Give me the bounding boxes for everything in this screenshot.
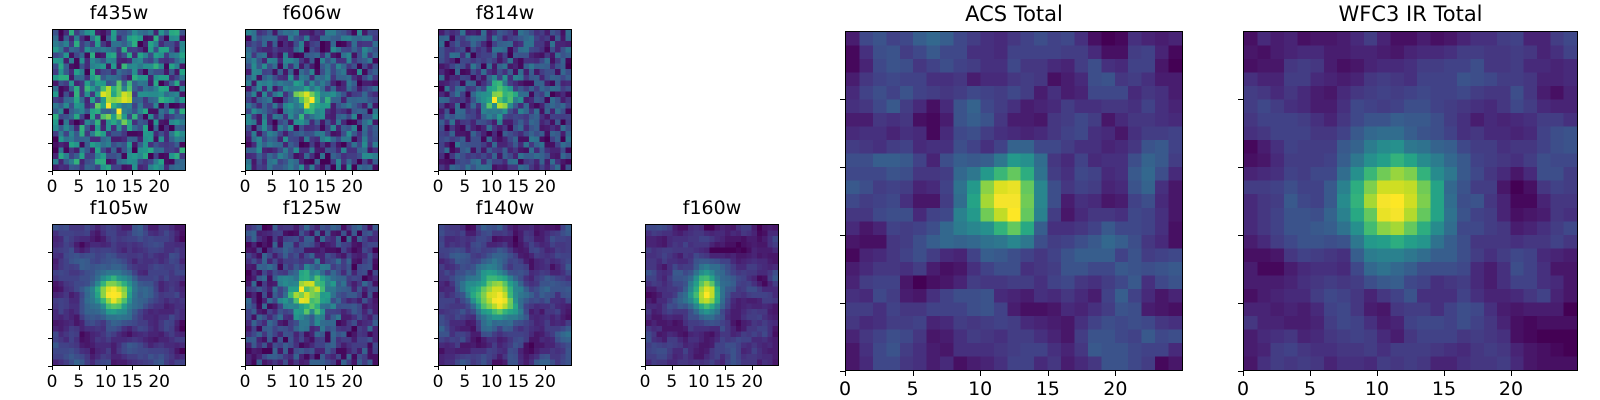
heatmap-f160w[interactable] bbox=[645, 224, 779, 366]
xtick-label: 10 bbox=[1365, 380, 1389, 399]
xtick-label: 10 bbox=[481, 374, 503, 391]
xtick-mark bbox=[1377, 371, 1378, 376]
ytick-mark bbox=[241, 366, 245, 367]
xtick-mark bbox=[492, 171, 493, 175]
xtick-mark bbox=[299, 171, 300, 175]
ytick-mark bbox=[434, 366, 438, 367]
xtick-mark bbox=[159, 171, 160, 175]
xtick-mark bbox=[699, 366, 700, 370]
heatmap-canvas-acs-total bbox=[846, 32, 1182, 370]
xtick-label: 20 bbox=[741, 374, 763, 391]
xtick-label: 0 bbox=[240, 374, 251, 391]
xtick-mark bbox=[545, 366, 546, 370]
heatmap-canvas-f125w bbox=[246, 225, 378, 365]
ytick-mark bbox=[840, 371, 845, 372]
ytick-mark bbox=[1238, 235, 1243, 236]
xtick-label: 5 bbox=[907, 380, 919, 399]
ytick-mark bbox=[434, 143, 438, 144]
ytick-mark bbox=[241, 252, 245, 253]
xtick-mark bbox=[913, 371, 914, 376]
xtick-mark bbox=[325, 171, 326, 175]
xtick-label: 5 bbox=[266, 374, 277, 391]
xtick-mark bbox=[272, 171, 273, 175]
ytick-mark bbox=[48, 143, 52, 144]
xtick-mark bbox=[159, 366, 160, 370]
heatmap-f105w[interactable] bbox=[52, 224, 186, 366]
ytick-mark bbox=[434, 281, 438, 282]
xtick-mark bbox=[106, 171, 107, 175]
ytick-mark bbox=[241, 171, 245, 172]
xtick-label: 0 bbox=[47, 179, 58, 196]
ytick-mark bbox=[840, 167, 845, 168]
xtick-label: 20 bbox=[534, 179, 556, 196]
xtick-label: 10 bbox=[288, 179, 310, 196]
ytick-mark bbox=[434, 252, 438, 253]
panel-title-f814w: f814w bbox=[438, 4, 572, 23]
ytick-mark bbox=[641, 338, 645, 339]
xtick-label: 15 bbox=[315, 374, 337, 391]
xtick-label: 5 bbox=[1304, 380, 1316, 399]
xtick-mark bbox=[545, 171, 546, 175]
xtick-mark bbox=[725, 366, 726, 370]
xtick-mark bbox=[352, 171, 353, 175]
xtick-label: 15 bbox=[715, 374, 737, 391]
xtick-label: 0 bbox=[839, 380, 851, 399]
xtick-label: 20 bbox=[1103, 380, 1127, 399]
xtick-mark bbox=[518, 366, 519, 370]
heatmap-canvas-wfc3-ir-total bbox=[1244, 32, 1577, 370]
xtick-label: 5 bbox=[73, 374, 84, 391]
xtick-label: 15 bbox=[122, 179, 144, 196]
ytick-mark bbox=[434, 338, 438, 339]
xtick-mark bbox=[79, 171, 80, 175]
ytick-mark bbox=[434, 57, 438, 58]
xtick-mark bbox=[1115, 371, 1116, 376]
xtick-mark bbox=[325, 366, 326, 370]
xtick-label: 20 bbox=[1499, 380, 1523, 399]
xtick-mark bbox=[465, 366, 466, 370]
xtick-label: 5 bbox=[459, 374, 470, 391]
ytick-mark bbox=[434, 114, 438, 115]
panel-title-f435w: f435w bbox=[52, 4, 186, 23]
xtick-mark bbox=[106, 366, 107, 370]
heatmap-f606w[interactable] bbox=[245, 29, 379, 171]
xtick-label: 15 bbox=[508, 179, 530, 196]
xtick-mark bbox=[438, 366, 439, 370]
ytick-mark bbox=[434, 86, 438, 87]
panel-title-wfc3-ir-total: WFC3 IR Total bbox=[1243, 4, 1578, 25]
ytick-mark bbox=[641, 252, 645, 253]
heatmap-f140w[interactable] bbox=[438, 224, 572, 366]
ytick-mark bbox=[48, 57, 52, 58]
panel-title-f125w: f125w bbox=[245, 199, 379, 218]
heatmap-f814w[interactable] bbox=[438, 29, 572, 171]
ytick-mark bbox=[48, 171, 52, 172]
xtick-label: 20 bbox=[341, 374, 363, 391]
ytick-mark bbox=[641, 366, 645, 367]
heatmap-canvas-f140w bbox=[439, 225, 571, 365]
panel-title-f140w: f140w bbox=[438, 199, 572, 218]
ytick-mark bbox=[241, 86, 245, 87]
xtick-label: 15 bbox=[315, 179, 337, 196]
xtick-mark bbox=[52, 171, 53, 175]
xtick-label: 0 bbox=[47, 374, 58, 391]
ytick-mark bbox=[840, 303, 845, 304]
xtick-label: 20 bbox=[148, 374, 170, 391]
xtick-label: 10 bbox=[481, 179, 503, 196]
heatmap-canvas-f435w bbox=[53, 30, 185, 170]
ytick-mark bbox=[241, 338, 245, 339]
ytick-mark bbox=[241, 281, 245, 282]
ytick-mark bbox=[241, 114, 245, 115]
ytick-mark bbox=[241, 57, 245, 58]
xtick-mark bbox=[752, 366, 753, 370]
xtick-label: 15 bbox=[1036, 380, 1060, 399]
heatmap-canvas-f105w bbox=[53, 225, 185, 365]
ytick-mark bbox=[241, 309, 245, 310]
ytick-mark bbox=[48, 366, 52, 367]
ytick-mark bbox=[434, 309, 438, 310]
ytick-mark bbox=[840, 235, 845, 236]
ytick-mark bbox=[1238, 303, 1243, 304]
panel-title-f606w: f606w bbox=[245, 4, 379, 23]
xtick-mark bbox=[245, 171, 246, 175]
xtick-mark bbox=[438, 171, 439, 175]
xtick-label: 20 bbox=[148, 179, 170, 196]
xtick-mark bbox=[1444, 371, 1445, 376]
xtick-mark bbox=[132, 366, 133, 370]
xtick-mark bbox=[352, 366, 353, 370]
heatmap-canvas-f814w bbox=[439, 30, 571, 170]
xtick-label: 10 bbox=[95, 179, 117, 196]
ytick-mark bbox=[48, 86, 52, 87]
ytick-mark bbox=[48, 309, 52, 310]
heatmap-wfc3-ir-total[interactable] bbox=[1243, 31, 1578, 371]
xtick-mark bbox=[79, 366, 80, 370]
ytick-mark bbox=[1238, 99, 1243, 100]
xtick-mark bbox=[672, 366, 673, 370]
ytick-mark bbox=[1238, 371, 1243, 372]
xtick-label: 10 bbox=[288, 374, 310, 391]
ytick-mark bbox=[434, 171, 438, 172]
xtick-mark bbox=[1048, 371, 1049, 376]
xtick-mark bbox=[272, 366, 273, 370]
panel-title-f160w: f160w bbox=[645, 199, 779, 218]
xtick-label: 0 bbox=[433, 374, 444, 391]
panel-title-f105w: f105w bbox=[52, 199, 186, 218]
ytick-mark bbox=[840, 99, 845, 100]
heatmap-f435w[interactable] bbox=[52, 29, 186, 171]
xtick-mark bbox=[1511, 371, 1512, 376]
xtick-mark bbox=[132, 171, 133, 175]
xtick-mark bbox=[299, 366, 300, 370]
xtick-label: 20 bbox=[341, 179, 363, 196]
xtick-mark bbox=[845, 371, 846, 376]
ytick-mark bbox=[48, 114, 52, 115]
ytick-mark bbox=[48, 252, 52, 253]
xtick-label: 0 bbox=[640, 374, 651, 391]
xtick-label: 15 bbox=[1432, 380, 1456, 399]
xtick-label: 0 bbox=[1237, 380, 1249, 399]
xtick-mark bbox=[465, 171, 466, 175]
xtick-label: 10 bbox=[968, 380, 992, 399]
ytick-mark bbox=[641, 309, 645, 310]
xtick-mark bbox=[645, 366, 646, 370]
xtick-label: 5 bbox=[666, 374, 677, 391]
xtick-mark bbox=[1243, 371, 1244, 376]
xtick-label: 0 bbox=[240, 179, 251, 196]
heatmap-canvas-f160w bbox=[646, 225, 778, 365]
xtick-label: 0 bbox=[433, 179, 444, 196]
heatmap-acs-total[interactable] bbox=[845, 31, 1183, 371]
ytick-mark bbox=[48, 338, 52, 339]
xtick-label: 20 bbox=[534, 374, 556, 391]
ytick-mark bbox=[1238, 167, 1243, 168]
xtick-label: 5 bbox=[266, 179, 277, 196]
ytick-mark bbox=[641, 281, 645, 282]
panel-title-acs-total: ACS Total bbox=[845, 4, 1183, 25]
heatmap-canvas-f606w bbox=[246, 30, 378, 170]
xtick-label: 15 bbox=[122, 374, 144, 391]
xtick-mark bbox=[52, 366, 53, 370]
xtick-mark bbox=[492, 366, 493, 370]
xtick-label: 10 bbox=[95, 374, 117, 391]
xtick-mark bbox=[1310, 371, 1311, 376]
xtick-mark bbox=[245, 366, 246, 370]
xtick-label: 15 bbox=[508, 374, 530, 391]
xtick-label: 5 bbox=[73, 179, 84, 196]
xtick-mark bbox=[518, 171, 519, 175]
xtick-mark bbox=[980, 371, 981, 376]
xtick-label: 10 bbox=[688, 374, 710, 391]
heatmap-f125w[interactable] bbox=[245, 224, 379, 366]
ytick-mark bbox=[241, 143, 245, 144]
ytick-mark bbox=[48, 281, 52, 282]
xtick-label: 5 bbox=[459, 179, 470, 196]
